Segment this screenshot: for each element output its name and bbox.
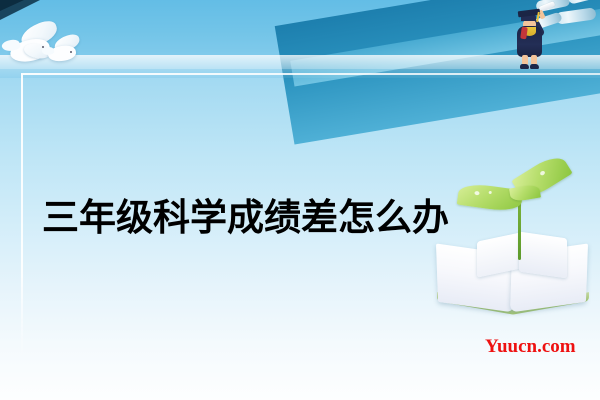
dark-corner-triangle-inner-icon (0, 0, 24, 11)
graduate-figure-icon (512, 4, 554, 72)
slide-canvas: 三年级科学成绩差怎么办 Yuucn.com (0, 0, 600, 400)
green-sprout-icon (480, 172, 590, 257)
frame-line-left (21, 74, 23, 362)
horizontal-stripe-upper (0, 55, 600, 69)
watermark-label: Yuucn.com (485, 336, 576, 358)
page-title: 三年级科学成绩差怎么办 (42, 196, 449, 240)
dove-small-icon (42, 36, 86, 68)
frame-line-top (21, 73, 600, 75)
